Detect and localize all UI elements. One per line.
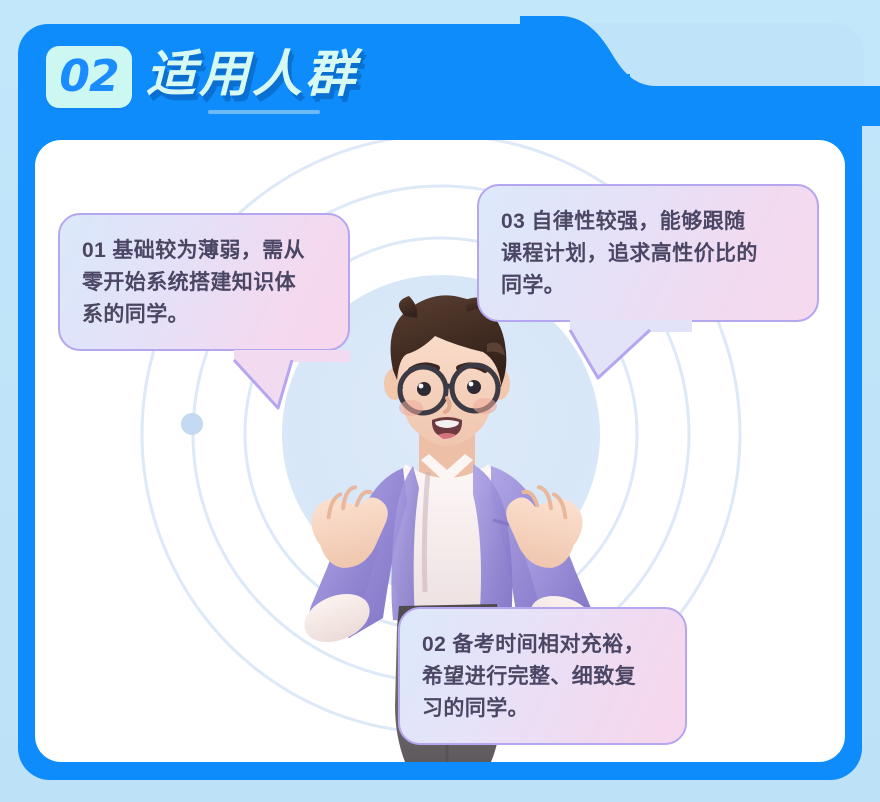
bubble-02-line-3: 习的同学。: [422, 693, 663, 725]
title-underline: [208, 110, 320, 114]
section-header: 02 适用人群: [46, 46, 358, 108]
bubble-01-line-1: 01 基础较为薄弱，需从: [82, 235, 326, 267]
speech-bubble-03: 03 自律性较强，能够跟随 课程计划，追求高性价比的 同学。: [477, 184, 819, 322]
bubble-01-line-3: 系的同学。: [82, 299, 326, 331]
bubble-01-line-2: 零开始系统搭建知识体: [82, 267, 326, 299]
speech-bubble-01: 01 基础较为薄弱，需从 零开始系统搭建知识体 系的同学。: [58, 213, 350, 351]
bubble-03-line-3: 同学。: [501, 270, 795, 302]
section-number-badge: 02: [46, 46, 132, 108]
bubble-02-line-2: 希望进行完整、细致复: [422, 661, 663, 693]
section-number: 02: [59, 55, 118, 99]
orbit-dot: [181, 413, 203, 435]
bubble-03-line-1: 03 自律性较强，能够跟随: [501, 206, 795, 238]
bubble-03-line-2: 课程计划，追求高性价比的: [501, 238, 795, 270]
page-title: 适用人群: [146, 49, 358, 99]
bubble-02-line-1: 02 备考时间相对充裕，: [422, 629, 663, 661]
speech-bubble-02: 02 备考时间相对充裕， 希望进行完整、细致复 习的同学。: [398, 607, 687, 745]
poster-root: 02 适用人群: [0, 0, 880, 802]
page-title-wrap: 适用人群: [146, 49, 358, 105]
